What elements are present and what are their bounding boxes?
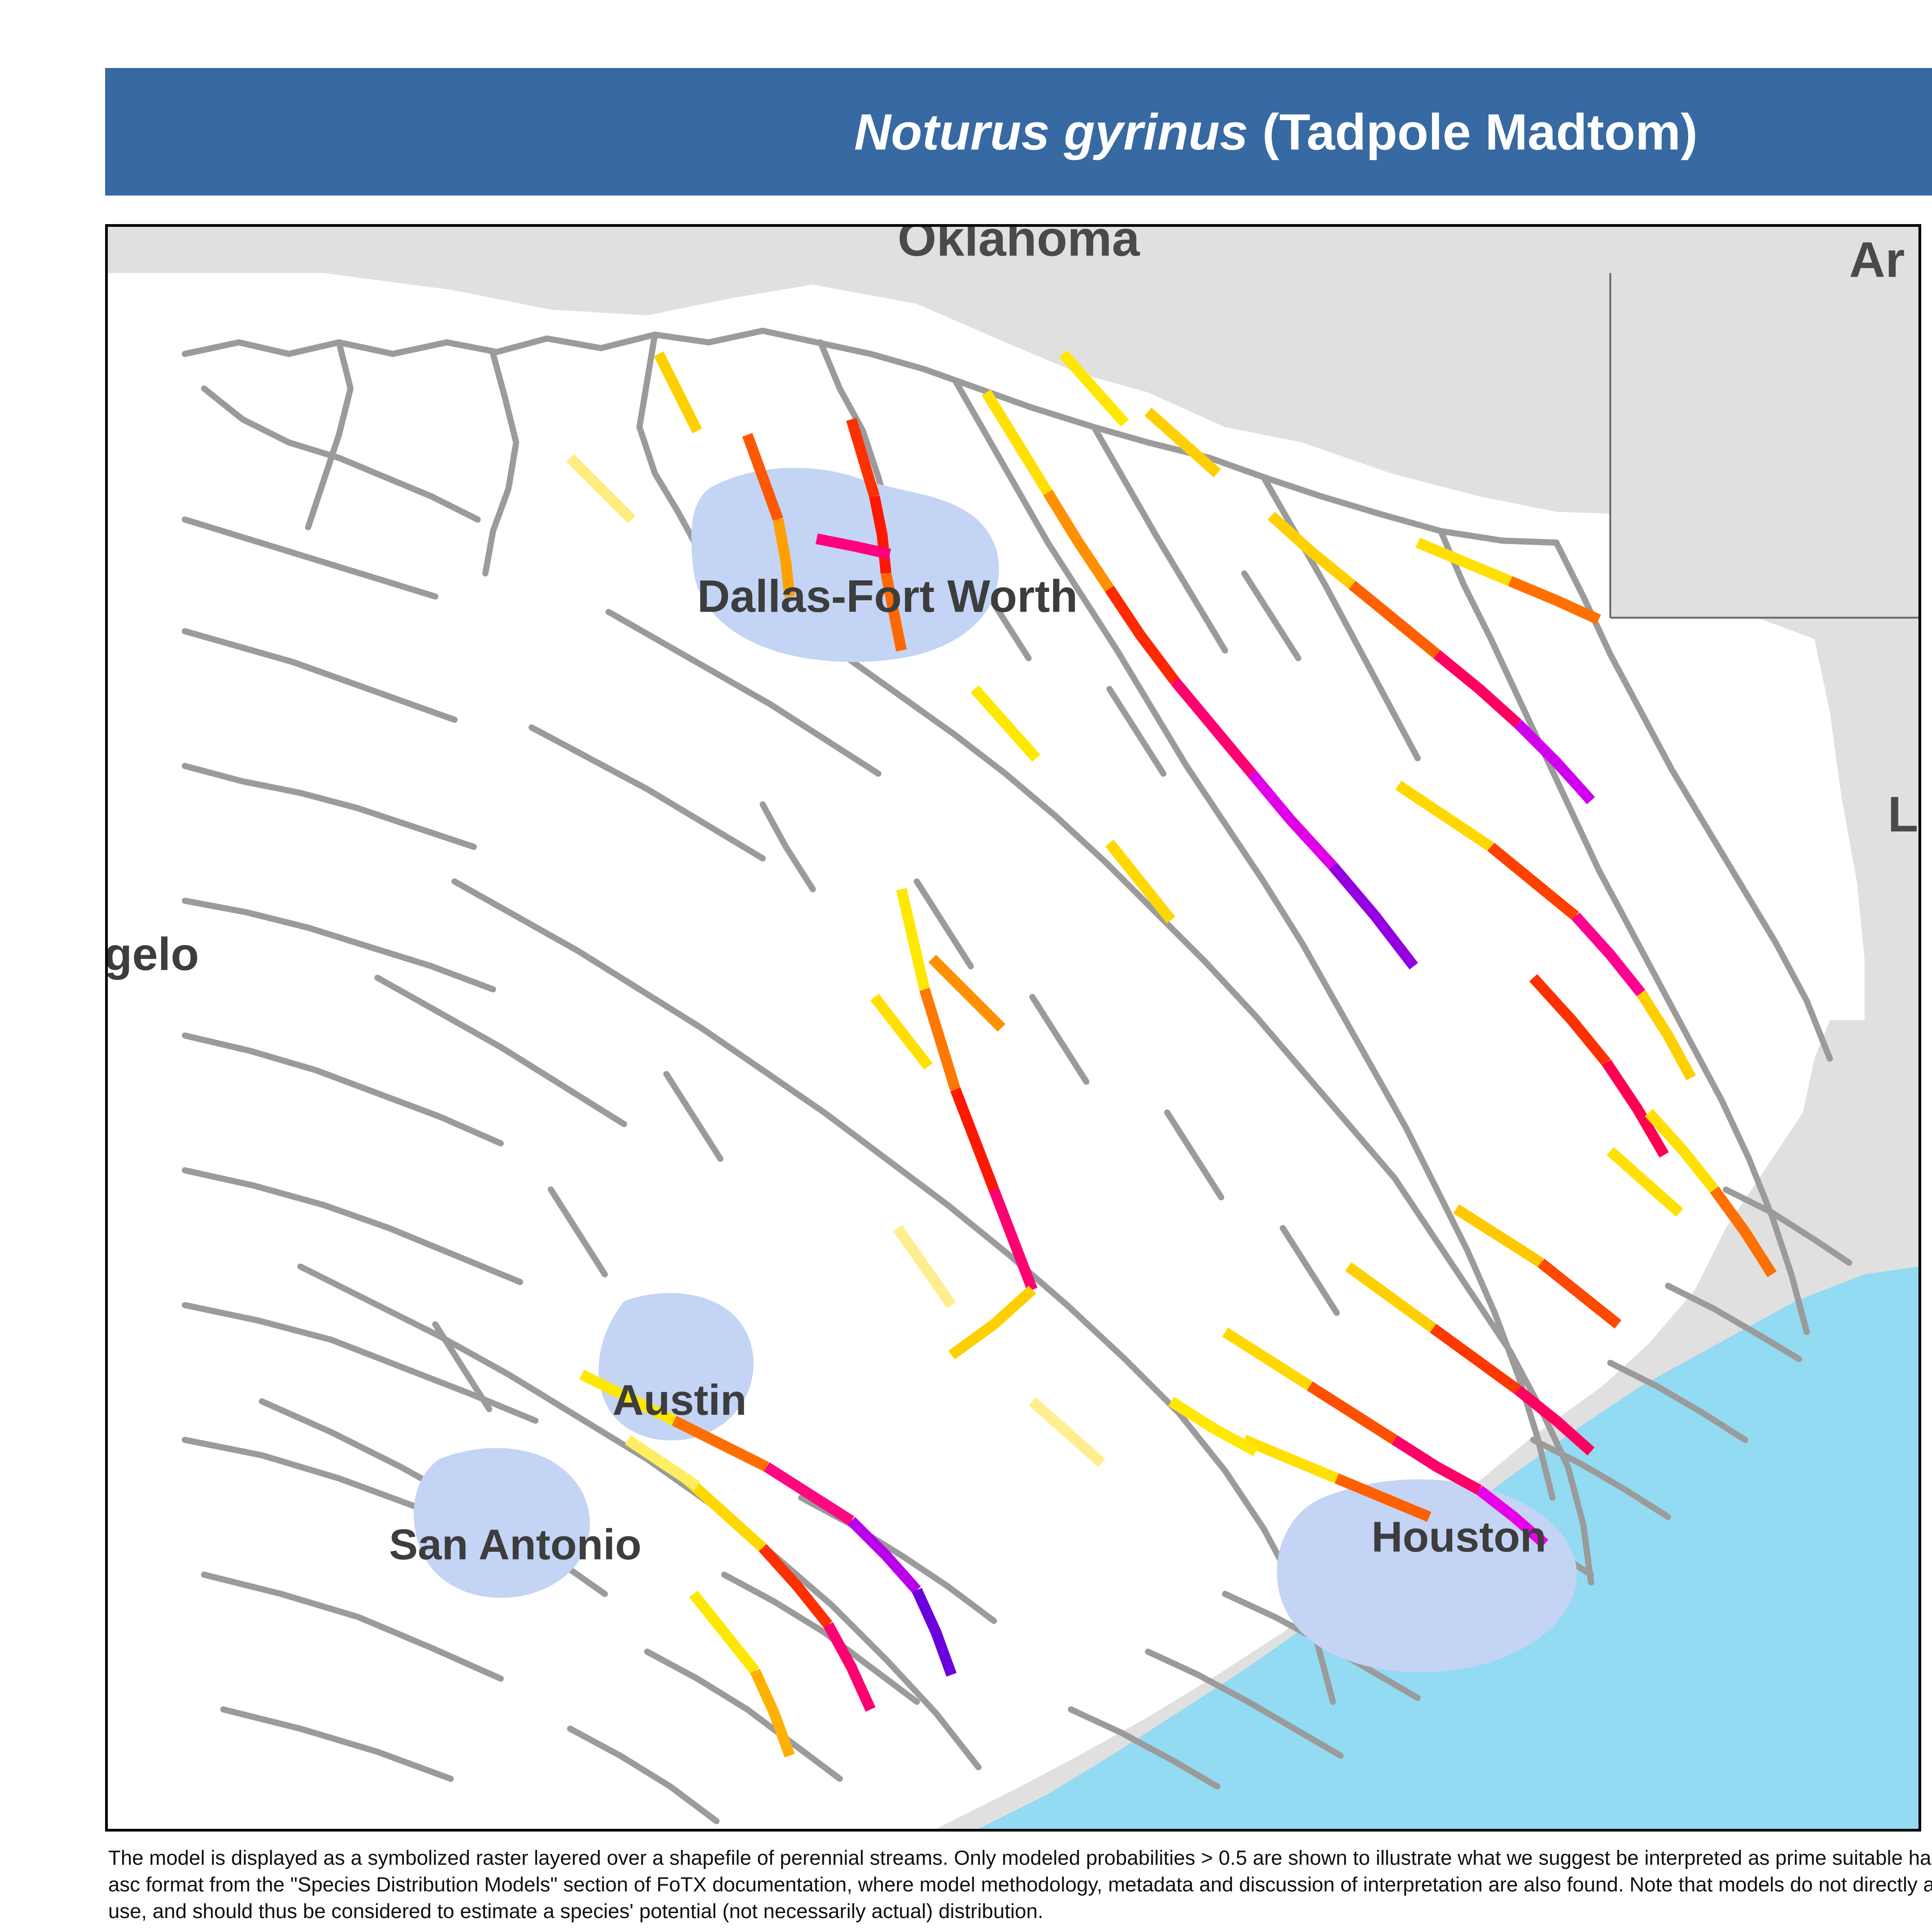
city-label-san-angelo: gelo — [108, 929, 199, 980]
state-label-oklahoma: Oklahoma — [898, 227, 1140, 267]
species-common-name: (Tadpole Madtom) — [1262, 104, 1698, 160]
city-label-dallas: Dallas-Fort Worth — [697, 571, 1078, 622]
page-title: Noturus gyrinus (Tadpole Madtom) — [854, 103, 1698, 161]
city-label-houston: Houston — [1371, 1512, 1546, 1561]
map-frame[interactable]: Dallas-Fort Worth Austin San Antonio Hou… — [105, 224, 1921, 1832]
title-banner: Noturus gyrinus (Tadpole Madtom) — [105, 68, 1932, 196]
species-scientific-name: Noturus gyrinus — [854, 104, 1248, 160]
state-label-louisiana: Lo — [1888, 787, 1918, 842]
city-label-san-antonio: San Antonio — [389, 1520, 641, 1568]
map-canvas[interactable]: Dallas-Fort Worth Austin San Antonio Hou… — [108, 227, 1918, 1829]
state-label-arkansas: Ar — [1849, 232, 1905, 288]
city-label-austin: Austin — [612, 1376, 747, 1424]
caption-text: The model is displayed as a symbolized r… — [108, 1845, 1932, 1925]
